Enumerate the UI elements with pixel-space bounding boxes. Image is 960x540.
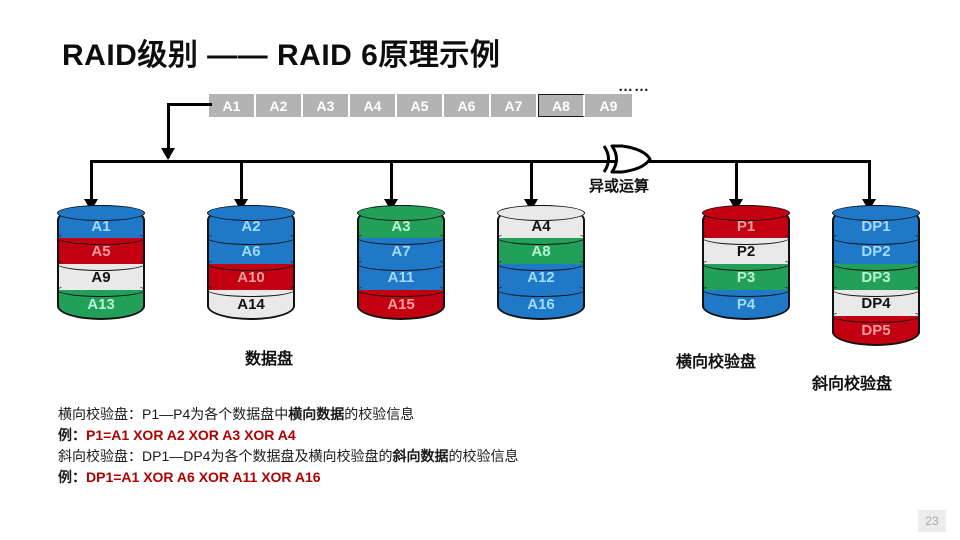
data-disk-4: A4A8A12A16	[497, 205, 585, 320]
disk-band-label: A7	[391, 244, 410, 259]
stripe-cell-a3: A3	[303, 94, 350, 117]
stripe-cell-a2: A2	[256, 94, 303, 117]
page-title: RAID级别 —— RAID 6原理示例	[62, 30, 500, 74]
disk-band-label: A11	[388, 270, 415, 285]
disk-band-a13: A13	[57, 290, 145, 320]
disk-band-label: A5	[91, 244, 110, 259]
disk-band-label: A12	[527, 270, 555, 285]
disk-band-a12: A12	[497, 264, 585, 290]
disk-band-a5: A5	[57, 238, 145, 264]
data-disk-3-cylinder: A3A7A11A15	[357, 205, 445, 320]
disk-band-a7: A7	[357, 238, 445, 264]
note3-text-a: 斜向校验盘：DP1—DP4为各个数据盘及横向校验盘的	[58, 448, 392, 464]
stripe-cell-a1: A1	[209, 94, 256, 117]
disk-band-a14: A14	[207, 290, 295, 320]
disk-band-label: P1	[737, 219, 755, 234]
disk-band-dp5: DP5	[832, 316, 920, 346]
data-disk-2: A2A6A10A14	[207, 205, 295, 320]
disk-band-label: A8	[531, 244, 550, 259]
stripe-cell-a9: A9	[585, 94, 632, 117]
stripe-ellipsis: ……	[618, 78, 650, 95]
note2-formula: P1=A1 XOR A2 XOR A3 XOR A4	[86, 427, 296, 443]
disk-band-p1: P1	[702, 205, 790, 238]
disk-band-a8: A8	[497, 238, 585, 264]
disk-band-p2: P2	[702, 238, 790, 264]
stripe-cell-a8: A8	[538, 94, 585, 117]
disk-band-label: A3	[391, 219, 410, 234]
note2-prefix: 例：	[58, 427, 86, 443]
disk-band-a6: A6	[207, 238, 295, 264]
disk-band-label: DP1	[861, 219, 890, 234]
disk-band-label: DP5	[861, 323, 890, 338]
disk-band-a11: A11	[357, 264, 445, 290]
disk-band-label: P3	[737, 270, 755, 285]
disk-band-label: DP2	[861, 244, 890, 259]
disk-band-label: DP3	[861, 270, 890, 285]
note-line-3: 斜向校验盘：DP1—DP4为各个数据盘及横向校验盘的斜向数据的校验信息	[58, 446, 778, 467]
xor-operation-label: 异或运算	[589, 175, 649, 196]
note-line-1: 横向校验盘：P1—P4为各个数据盘中横向数据的校验信息	[58, 404, 778, 425]
disk-band-dp3: DP3	[832, 264, 920, 290]
disk-band-a3: A3	[357, 205, 445, 238]
page-number: 23	[918, 510, 946, 532]
caption-diagonal-parity: 斜向校验盘	[812, 370, 892, 394]
disk-band-a15: A15	[357, 290, 445, 320]
note3-text-bold: 斜向数据	[392, 448, 448, 464]
disk-band-label: P4	[737, 297, 755, 312]
disk-band-label: A9	[91, 270, 110, 285]
disk-band-label: A1	[91, 219, 110, 234]
disk-band-label: DP4	[861, 296, 890, 311]
data-disk-4-cylinder: A4A8A12A16	[497, 205, 585, 320]
note-line-2: 例：P1=A1 XOR A2 XOR A3 XOR A4	[58, 425, 778, 446]
disk-band-label: P2	[737, 244, 755, 259]
caption-horizontal-parity: 横向校验盘	[676, 348, 756, 372]
stripe-cell-a5: A5	[397, 94, 444, 117]
disk-band-dp1: DP1	[832, 205, 920, 238]
stripe-row: A1A2A3A4A5A6A7A8A9	[209, 94, 632, 117]
disk-band-a10: A10	[207, 264, 295, 290]
disk-band-a9: A9	[57, 264, 145, 290]
disk-band-a16: A16	[497, 290, 585, 320]
disk-band-a4: A4	[497, 205, 585, 238]
note1-text-b: 的校验信息	[344, 406, 414, 422]
caption-data-disks: 数据盘	[245, 345, 293, 369]
stripe-cell-a7: A7	[491, 94, 538, 117]
stripe-feed-line	[167, 103, 212, 106]
note-line-4: 例：DP1=A1 XOR A6 XOR A11 XOR A16	[58, 467, 778, 488]
horizontal-parity-disk: P1P2P3P4	[702, 205, 790, 320]
data-disk-2-cylinder: A2A6A10A14	[207, 205, 295, 320]
disk-band-label: A4	[531, 219, 550, 234]
disk-band-a2: A2	[207, 205, 295, 238]
disk-band-label: A13	[87, 297, 115, 312]
data-disk-1: A1A5A9A13	[57, 205, 145, 320]
data-disk-1-cylinder: A1A5A9A13	[57, 205, 145, 320]
note1-text-bold: 横向数据	[288, 406, 344, 422]
diagonal-parity-disk-cylinder: DP1DP2DP3DP4DP5	[832, 205, 920, 346]
note4-prefix: 例：	[58, 469, 86, 485]
stripe-cell-a6: A6	[444, 94, 491, 117]
horizontal-parity-disk-cylinder: P1P2P3P4	[702, 205, 790, 320]
notes-block: 横向校验盘：P1—P4为各个数据盘中横向数据的校验信息 例：P1=A1 XOR …	[58, 404, 778, 488]
disk-band-dp4: DP4	[832, 290, 920, 316]
distribution-bus-line	[90, 160, 871, 163]
slide-canvas: RAID级别 —— RAID 6原理示例 A1A2A3A4A5A6A7A8A9 …	[0, 0, 960, 540]
disk-band-label: A14	[237, 297, 265, 312]
disk-band-label: A6	[241, 244, 260, 259]
data-disk-3: A3A7A11A15	[357, 205, 445, 320]
disk-band-label: A16	[527, 297, 555, 312]
disk-band-label: A2	[241, 219, 260, 234]
disk-band-p4: P4	[702, 290, 790, 320]
note1-text-a: 横向校验盘：P1—P4为各个数据盘中	[58, 406, 288, 422]
note3-text-b: 的校验信息	[448, 448, 518, 464]
disk-band-a1: A1	[57, 205, 145, 238]
stripe-cell-a4: A4	[350, 94, 397, 117]
note4-formula: DP1=A1 XOR A6 XOR A11 XOR A16	[86, 469, 321, 485]
disk-band-p3: P3	[702, 264, 790, 290]
disk-band-dp2: DP2	[832, 238, 920, 264]
stripe-drop-arrow	[161, 148, 175, 160]
diagonal-parity-disk: DP1DP2DP3DP4DP5	[832, 205, 920, 346]
disk-band-label: A15	[387, 297, 415, 312]
disk-band-label: A10	[237, 270, 265, 285]
